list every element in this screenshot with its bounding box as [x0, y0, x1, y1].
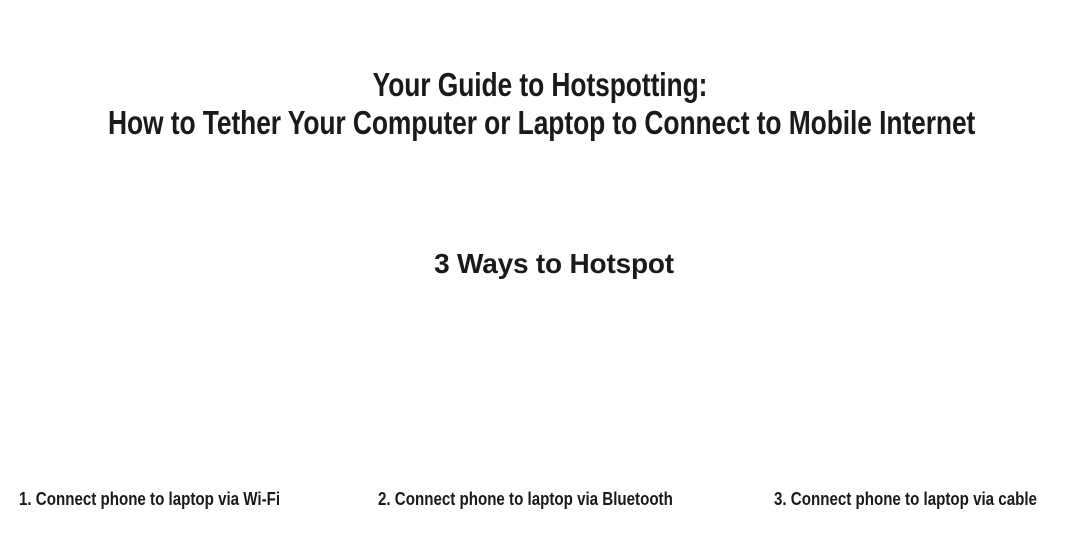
page-title-line-2: How to Tether Your Computer or Laptop to… [108, 104, 972, 142]
page-title: Your Guide to Hotspotting: How to Tether… [108, 66, 972, 142]
caption-bluetooth: 2. Connect phone to laptop via Bluetooth [378, 487, 673, 511]
illustration-slot-bluetooth [360, 282, 720, 480]
section-heading: 3 Ways to Hotspot [0, 247, 1080, 281]
page-title-line-1: Your Guide to Hotspotting: [108, 66, 972, 104]
article-page: Your Guide to Hotspotting: How to Tether… [0, 0, 1080, 552]
illustration-image-cable [720, 282, 1080, 480]
illustration-band [0, 282, 1080, 480]
caption-row: 1. Connect phone to laptop via Wi-Fi 2. … [0, 487, 1080, 515]
caption-wifi: 1. Connect phone to laptop via Wi-Fi [19, 487, 280, 511]
illustration-slot-wifi [0, 282, 360, 480]
illustration-image-wifi [0, 282, 360, 480]
illustration-image-bluetooth [360, 282, 720, 480]
illustration-slot-cable [720, 282, 1080, 480]
caption-cable: 3. Connect phone to laptop via cable [774, 487, 1037, 511]
